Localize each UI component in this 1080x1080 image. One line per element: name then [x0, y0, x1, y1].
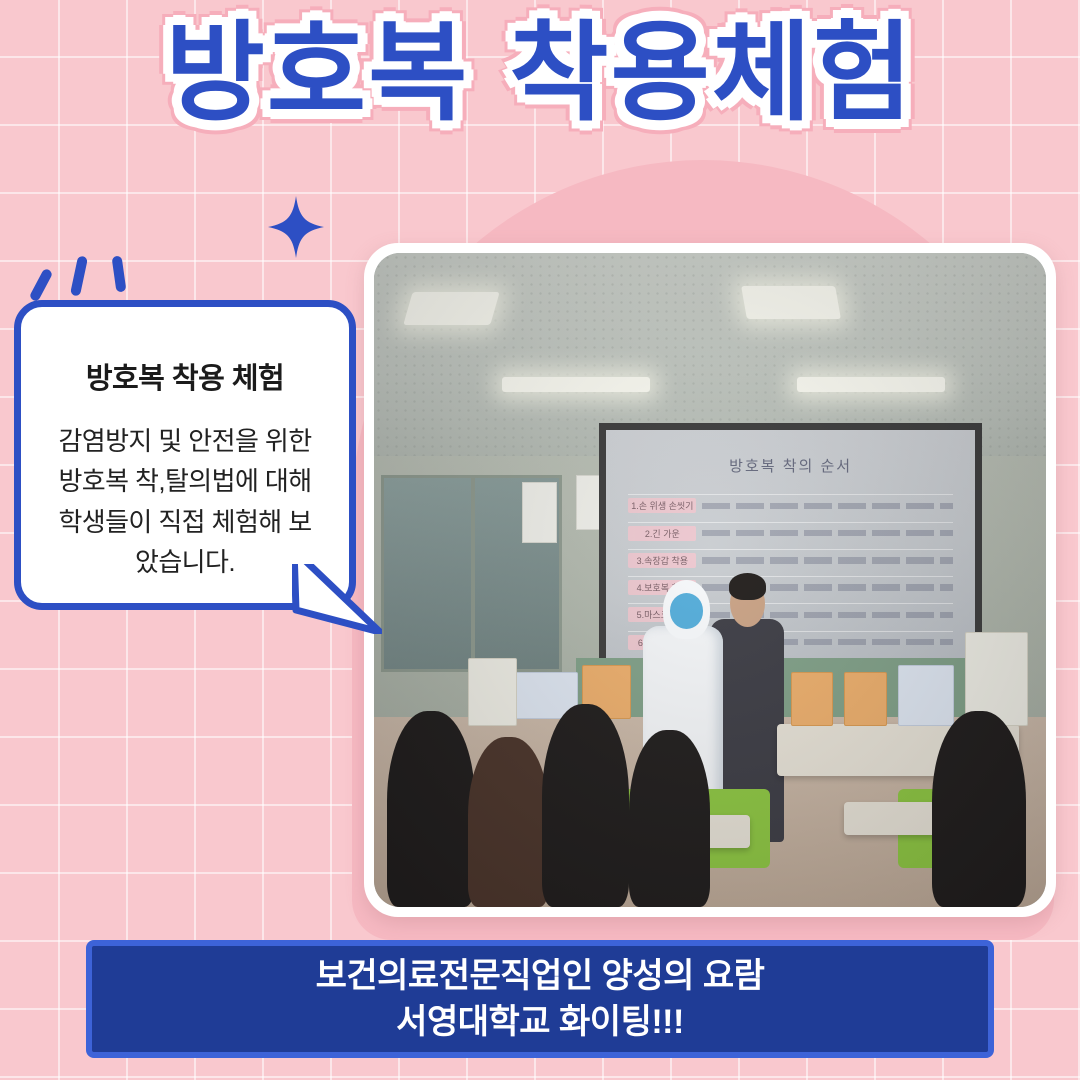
bubble-body-text: 감염방지 및 안전을 위한 방호복 착,탈의법에 대해 학생들이 직접 체험해 …: [43, 421, 327, 582]
photo-screen-title: 방호복 착의 순서: [606, 455, 975, 476]
photo-ceiling-light-3: [502, 377, 650, 391]
photo-frame: 방호복 착의 순서 1.손 위생 손씻기 2.긴 가운 3.속장갑 착용 4.보…: [364, 243, 1056, 917]
photo-supply-box-3: [898, 665, 954, 726]
photo-supply-box-1: [791, 672, 833, 726]
photo-student-2: [468, 737, 549, 907]
speech-bubble-tail-icon: [292, 548, 382, 634]
photo-ceiling-light-1: [403, 292, 500, 325]
photo-screen-row: 1.손 위생 손씻기: [628, 494, 953, 516]
photo-ceiling-light-4: [797, 377, 945, 391]
photo-screen-row-label: 3.속장갑 착용: [628, 553, 696, 568]
photo-student-4: [629, 730, 710, 907]
photo-wall-poster-1: [522, 482, 558, 543]
photo-supply-box-7: [468, 658, 517, 725]
footer-banner: 보건의료전문직업인 양성의 요람 서영대학교 화이팅!!!: [86, 940, 994, 1058]
photo-screen-row-text: [702, 503, 953, 509]
photo-screen-row-text: [702, 557, 953, 563]
sparkle-icon: [268, 196, 324, 258]
photo-supply-box-2: [844, 672, 886, 726]
bubble-heading: 방호복 착용 체험: [43, 355, 327, 397]
classroom-photo: 방호복 착의 순서 1.손 위생 손씻기 2.긴 가운 3.속장갑 착용 4.보…: [374, 253, 1046, 907]
photo-ppe-faceshield: [670, 593, 704, 629]
poster-card: 방호복 착용체험 방호복 착용 체험 감염방지 및 안전을 위한 방호복 착,탈…: [0, 0, 1080, 1080]
photo-instructor-hair: [729, 573, 767, 599]
photo-student-1: [387, 711, 474, 907]
photo-screen-row: 2.긴 가운: [628, 522, 953, 544]
photo-screen-row-label: 2.긴 가운: [628, 526, 696, 541]
page-title: 방호복 착용체험: [165, 10, 914, 137]
photo-screen-row-label: 1.손 위생 손씻기: [628, 498, 696, 513]
bubble-spark-lines-icon: [30, 252, 150, 312]
photo-student-3: [542, 704, 629, 907]
title-area: 방호복 착용체험: [0, 10, 1080, 137]
photo-student-5: [932, 711, 1026, 907]
photo-screen-row: 3.속장갑 착용: [628, 549, 953, 571]
footer-line-2: 서영대학교 화이팅!!!: [396, 1001, 684, 1044]
photo-ceiling-light-2: [741, 286, 841, 319]
photo-screen-row-text: [702, 530, 953, 536]
footer-line-1: 보건의료전문직업인 양성의 요람: [316, 955, 765, 998]
